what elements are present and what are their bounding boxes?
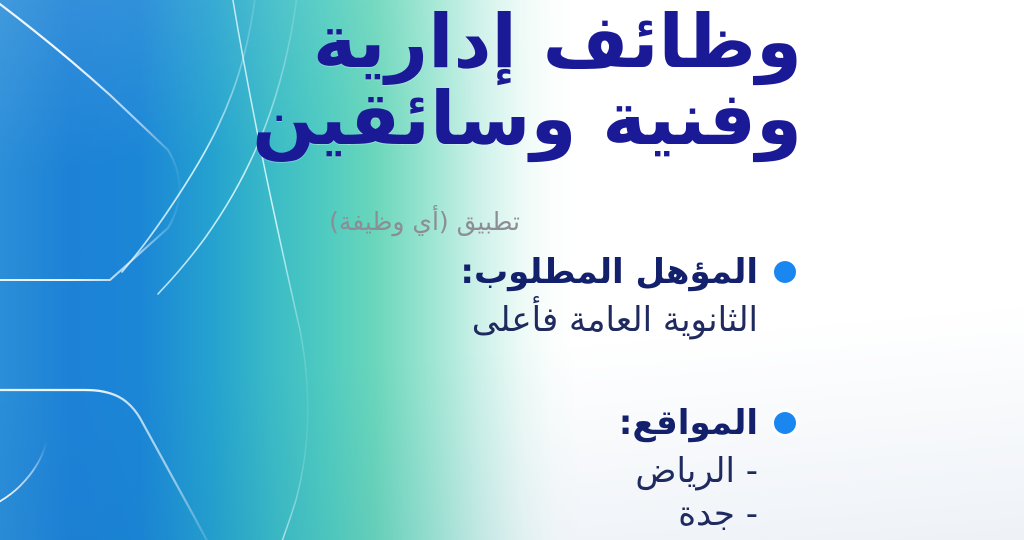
- job-poster: وظائف إدارية وفنية وسائقين تطبيق (أي وظي…: [0, 0, 1024, 540]
- bullet-dot-icon: [774, 261, 796, 283]
- section-heading-qualification: المؤهل المطلوب:: [460, 252, 758, 293]
- poster-content: وظائف إدارية وفنية وسائقين تطبيق (أي وظي…: [0, 0, 1024, 540]
- section-qualification: المؤهل المطلوب: الثانوية العامة فأعلى: [236, 252, 796, 342]
- title-line-1: وظائف إدارية: [202, 6, 802, 79]
- bullet-dot-icon: [774, 412, 796, 434]
- title-line-2: وفنية وسائقين: [202, 83, 802, 156]
- list-item: الثانوية العامة فأعلى: [236, 299, 758, 343]
- section-locations: المواقع: - الرياض - جدة: [236, 403, 796, 537]
- section-heading-row: المواقع:: [236, 403, 796, 444]
- section-body-locations: - الرياض - جدة: [236, 450, 796, 537]
- section-heading-locations: المواقع:: [619, 403, 758, 444]
- list-item: - الرياض: [236, 450, 758, 494]
- poster-title: وظائف إدارية وفنية وسائقين: [202, 6, 802, 155]
- list-item: - جدة: [236, 493, 758, 537]
- section-body-qualification: الثانوية العامة فأعلى: [236, 299, 796, 343]
- section-heading-row: المؤهل المطلوب:: [236, 252, 796, 293]
- poster-subtitle: تطبيق (أي وظيفة): [329, 208, 520, 236]
